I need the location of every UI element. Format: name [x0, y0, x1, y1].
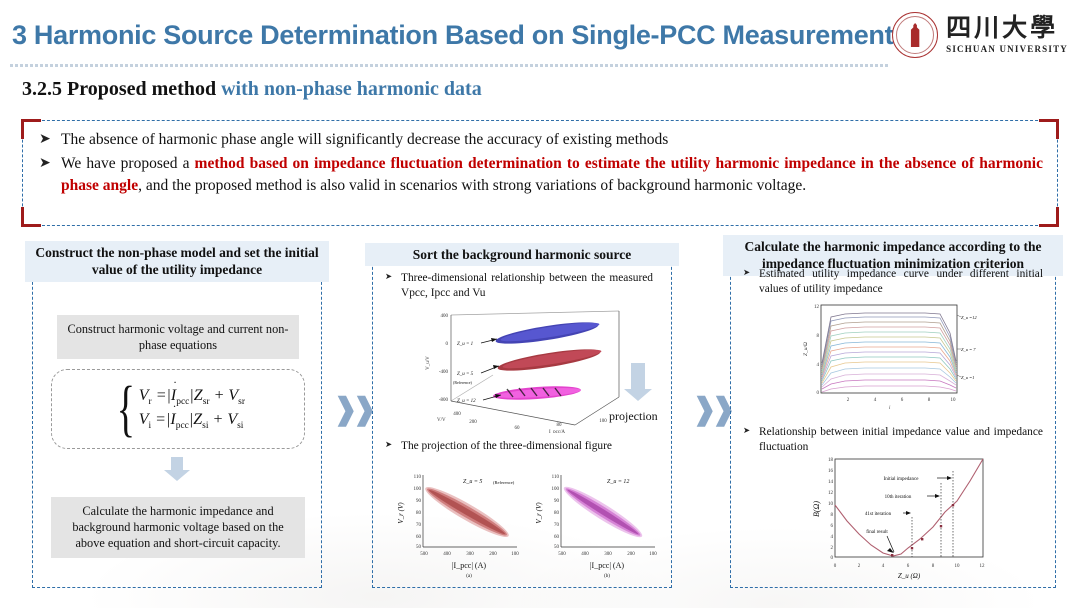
- svg-text:400: 400: [453, 412, 461, 417]
- svg-text:300: 300: [604, 552, 612, 557]
- svg-text:-400: -400: [439, 370, 449, 375]
- panel-3-bullet-2: Relationship between initial impedance v…: [743, 425, 1043, 455]
- svg-text:-800: -800: [439, 398, 449, 403]
- svg-text:200: 200: [469, 420, 477, 425]
- svg-text:Z_u =1: Z_u =1: [961, 375, 974, 380]
- svg-text:V/V: V/V: [437, 418, 446, 423]
- svg-text:16: 16: [828, 469, 834, 474]
- svg-text:110: 110: [552, 475, 560, 480]
- chart-estimated-impedance-curves: 128 40 24 68 10 i Z_u/Ω: [795, 299, 993, 411]
- svg-text:50: 50: [554, 545, 560, 550]
- logo-english-name: SICHUAN UNIVERSITY: [946, 44, 1068, 54]
- svg-text:Z_u = 12: Z_u = 12: [457, 399, 476, 404]
- svg-text:400: 400: [441, 314, 449, 319]
- svg-text:V_r (V): V_r (V): [397, 502, 405, 524]
- chart-projection-b: 110100 9080 7060 50 500400 300200 100 V_…: [529, 467, 661, 579]
- svg-text:6: 6: [831, 524, 834, 529]
- svg-text:100: 100: [649, 552, 657, 557]
- svg-text:100: 100: [511, 552, 519, 557]
- bullet-2-seg-1: We have proposed a: [61, 155, 195, 172]
- page-title: 3 Harmonic Source Determination Based on…: [12, 20, 908, 51]
- svg-text:(a): (a): [466, 574, 472, 579]
- panel-1-step-2: Calculate the harmonic impedance and bac…: [51, 497, 305, 558]
- svg-text:|I_pcc| (A): |I_pcc| (A): [452, 561, 486, 570]
- corner-bracket-br: [1039, 207, 1059, 227]
- svg-text:|I_pcc| (A): |I_pcc| (A): [590, 561, 624, 570]
- header-divider: [10, 64, 890, 67]
- svg-text:10: 10: [828, 502, 834, 507]
- svg-text:70: 70: [416, 523, 422, 528]
- bullet-2-seg-3: , and the proposed method is also valid …: [138, 177, 806, 194]
- svg-text:4: 4: [882, 564, 885, 569]
- svg-text:Z_u = 5: Z_u = 5: [463, 479, 482, 485]
- projection-plots: 110100 9080 7060 50 500400 300200 100 V_…: [391, 467, 661, 579]
- svg-text:12: 12: [828, 491, 834, 496]
- flow-chevron-2-icon: ❱❱: [692, 392, 730, 427]
- svg-text:Z_u = 12: Z_u = 12: [607, 479, 629, 485]
- svg-text:2: 2: [831, 546, 834, 551]
- svg-text:8: 8: [817, 334, 820, 339]
- svg-text:60: 60: [416, 535, 422, 540]
- svg-text:90: 90: [416, 499, 422, 504]
- svg-text:Initial impedance: Initial impedance: [884, 477, 920, 482]
- chart-projection-a: 110100 9080 7060 50 500400 300200 100 V_…: [391, 467, 523, 579]
- svg-text:V_u/V: V_u/V: [426, 356, 431, 370]
- svg-text:70: 70: [554, 523, 560, 528]
- svg-text:(b): (b): [604, 574, 610, 579]
- svg-text:90: 90: [554, 499, 560, 504]
- bullet-arrow-icon: ➤: [39, 130, 51, 150]
- svg-text:400: 400: [581, 552, 589, 557]
- svg-text:41st iteration: 41st iteration: [865, 512, 892, 517]
- svg-text:10: 10: [955, 564, 961, 569]
- svg-text:400: 400: [443, 552, 451, 557]
- svg-text:80: 80: [557, 423, 563, 428]
- svg-text:i: i: [889, 406, 891, 411]
- svg-text:500: 500: [558, 552, 566, 557]
- svg-text:(Reference): (Reference): [453, 380, 473, 385]
- svg-text:B(Ω): B(Ω): [812, 501, 821, 517]
- svg-text:14: 14: [828, 480, 834, 485]
- university-logo: 四川大學 SICHUAN UNIVERSITY: [892, 12, 1068, 58]
- svg-text:60: 60: [515, 426, 521, 431]
- chart-3d-vpcc-ipcc-vu: 400 0 -400 -800 V_u/V 200 400 V/V 60 80 …: [407, 305, 635, 433]
- svg-text:100: 100: [599, 419, 607, 424]
- equation-line-1: Vr =|Ipcc|Zsr + Vsr: [139, 387, 245, 407]
- svg-text:8: 8: [932, 564, 935, 569]
- svg-text:500: 500: [420, 552, 428, 557]
- subtitle-blue: with non-phase harmonic data: [221, 78, 482, 100]
- bullet-arrow-icon: ➤: [39, 154, 51, 174]
- panel-2-header: Sort the background harmonic source: [365, 243, 679, 266]
- svg-text:100: 100: [552, 487, 560, 492]
- panel-1-step-1: Construct harmonic voltage and current n…: [57, 315, 299, 359]
- panel-sort-source: Sort the background harmonic source Thre…: [372, 252, 672, 588]
- projection-arrow-icon: [631, 363, 645, 389]
- svg-text:60: 60: [554, 535, 560, 540]
- flow-chevron-1-icon: ❱❱: [333, 392, 371, 427]
- svg-text:8: 8: [928, 398, 931, 403]
- panel-1-header: Construct the non-phase model and set th…: [25, 241, 329, 282]
- svg-text:final result: final result: [866, 530, 888, 535]
- svg-text:0: 0: [446, 342, 449, 347]
- svg-text:Z_u =12: Z_u =12: [961, 315, 977, 320]
- svg-text:200: 200: [489, 552, 497, 557]
- subtitle-bold: 3.2.5 Proposed method: [22, 78, 221, 100]
- logo-chinese-name: 四川大學: [946, 16, 1068, 41]
- panel-calculate-impedance: Calculate the harmonic impedance accordi…: [730, 252, 1056, 588]
- svg-text:4: 4: [831, 535, 834, 540]
- flow-down-arrow-icon: [169, 457, 185, 471]
- svg-text:300: 300: [466, 552, 474, 557]
- slide: 3 Harmonic Source Determination Based on…: [0, 0, 1080, 608]
- svg-text:2: 2: [847, 398, 850, 403]
- equation-block: { Vr =|Ipcc|Zsr + Vsr Vi =|Ipcc|Zsi + Vs…: [51, 369, 305, 449]
- brace-icon: {: [117, 378, 135, 440]
- svg-text:0: 0: [831, 556, 834, 561]
- svg-text:Z_u = 5: Z_u = 5: [457, 372, 474, 377]
- svg-text:4: 4: [874, 398, 877, 403]
- projection-label: projection: [609, 409, 658, 424]
- callout-bullet-2: ➤We have proposed a method based on impe…: [37, 153, 1043, 197]
- svg-text:50: 50: [416, 545, 422, 550]
- svg-text:2: 2: [858, 564, 861, 569]
- svg-text:18: 18: [828, 458, 834, 463]
- section-subtitle: 3.2.5 Proposed method with non-phase har…: [22, 78, 482, 101]
- svg-text:I_pcc/A: I_pcc/A: [549, 430, 565, 433]
- panel-construct-model: Construct the non-phase model and set th…: [32, 252, 322, 588]
- svg-text:80: 80: [554, 511, 560, 516]
- svg-text:V_r (V): V_r (V): [535, 502, 543, 524]
- panel-3-bullet-1: Estimated utility impedance curve under …: [743, 267, 1043, 297]
- callout-bullet-1: ➤ The absence of harmonic phase angle wi…: [37, 129, 1043, 151]
- svg-text:Z_u = 7: Z_u = 7: [961, 347, 976, 352]
- svg-text:8: 8: [831, 513, 834, 518]
- svg-text:6: 6: [907, 564, 910, 569]
- chart-impedance-fluctuation: 1816 1412 108 64 20 02 46 810 12 Z_u (Ω)…: [805, 455, 1005, 581]
- svg-text:Z_u/Ω: Z_u/Ω: [803, 342, 809, 356]
- svg-text:0: 0: [817, 391, 820, 396]
- summary-callout: ➤ The absence of harmonic phase angle wi…: [22, 120, 1058, 226]
- svg-text:10: 10: [951, 398, 957, 403]
- svg-text:110: 110: [414, 475, 422, 480]
- svg-text:200: 200: [627, 552, 635, 557]
- equation-line-2: Vi =|Ipcc|Zsi + Vsi: [139, 411, 245, 431]
- panel-2-bullet-1: Three-dimensional relationship between t…: [385, 271, 653, 301]
- corner-bracket-bl: [21, 207, 41, 227]
- svg-text:12: 12: [814, 305, 820, 310]
- svg-text:6: 6: [901, 398, 904, 403]
- panel-2-bullet-2: The projection of the three-dimensional …: [385, 439, 653, 454]
- svg-text:0: 0: [834, 564, 837, 569]
- svg-text:4: 4: [817, 363, 820, 368]
- svg-text:12: 12: [980, 564, 986, 569]
- svg-text:Z_u (Ω): Z_u (Ω): [898, 572, 921, 580]
- svg-text:Z_u = 1: Z_u = 1: [457, 342, 473, 347]
- svg-text:(Reference): (Reference): [493, 480, 515, 485]
- seal-icon: [892, 12, 938, 58]
- svg-text:100: 100: [414, 487, 422, 492]
- svg-text:10th iteration: 10th iteration: [885, 495, 912, 500]
- svg-text:80: 80: [416, 511, 422, 516]
- bullet-1-text: The absence of harmonic phase angle will…: [61, 131, 668, 148]
